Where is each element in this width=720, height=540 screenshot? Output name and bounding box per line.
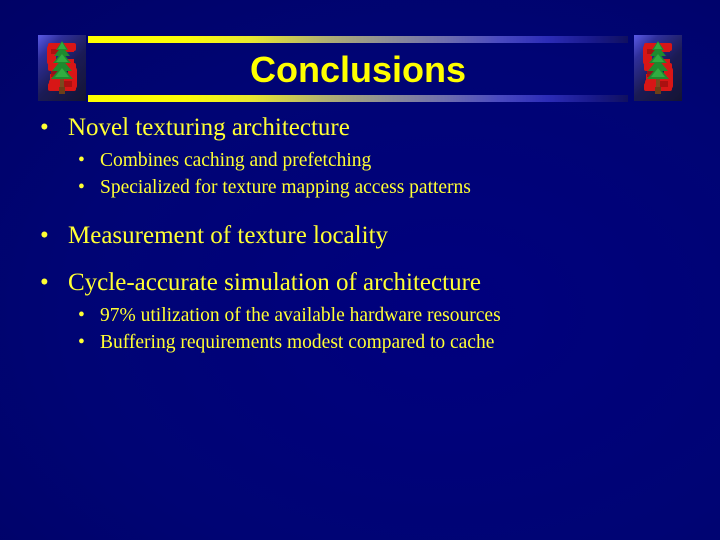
bullet-marker: • <box>78 329 85 356</box>
bullet-level2: • 97% utilization of the available hardw… <box>0 302 720 329</box>
bullet-level1: • Novel texturing architecture <box>0 112 720 143</box>
bullet-level2: • Buffering requirements modest compared… <box>0 329 720 356</box>
page-title: Conclusions <box>88 46 628 94</box>
title-rule-bottom <box>88 95 628 102</box>
bullet-marker: • <box>78 147 85 174</box>
bullet-marker: • <box>40 112 49 143</box>
bullet-level2: • Specialized for texture mapping access… <box>0 174 720 201</box>
bullet-level1: • Measurement of texture locality <box>0 220 720 251</box>
bullet-text: Specialized for texture mapping access p… <box>100 177 471 198</box>
bullet-text: Cycle-accurate simulation of architectur… <box>68 269 481 296</box>
slide-body: • Novel texturing architecture • Combine… <box>0 112 720 356</box>
bullet-level1: • Cycle-accurate simulation of architect… <box>0 267 720 298</box>
stanford-tree-s-icon <box>634 35 682 101</box>
bullet-text: Buffering requirements modest compared t… <box>100 332 494 353</box>
bullet-text: Combines caching and prefetching <box>100 150 371 171</box>
slide-title-band: Conclusions <box>0 34 720 104</box>
bullet-text: Measurement of texture locality <box>68 222 388 249</box>
bullet-text: Novel texturing architecture <box>68 114 350 141</box>
spacer <box>0 251 720 267</box>
stanford-tree-s-logo-right <box>634 35 682 101</box>
bullet-marker: • <box>78 174 85 201</box>
bullet-text: 97% utilization of the available hardwar… <box>100 305 501 326</box>
bullet-marker: • <box>40 267 49 298</box>
presentation-slide: Conclusions <box>0 0 720 540</box>
bullet-marker: • <box>40 220 49 251</box>
title-rule-top <box>88 36 628 43</box>
stanford-tree-s-icon <box>38 35 86 101</box>
stanford-tree-s-logo-left <box>38 35 86 101</box>
spacer <box>0 201 720 220</box>
bullet-marker: • <box>78 302 85 329</box>
bullet-level2: • Combines caching and prefetching <box>0 147 720 174</box>
